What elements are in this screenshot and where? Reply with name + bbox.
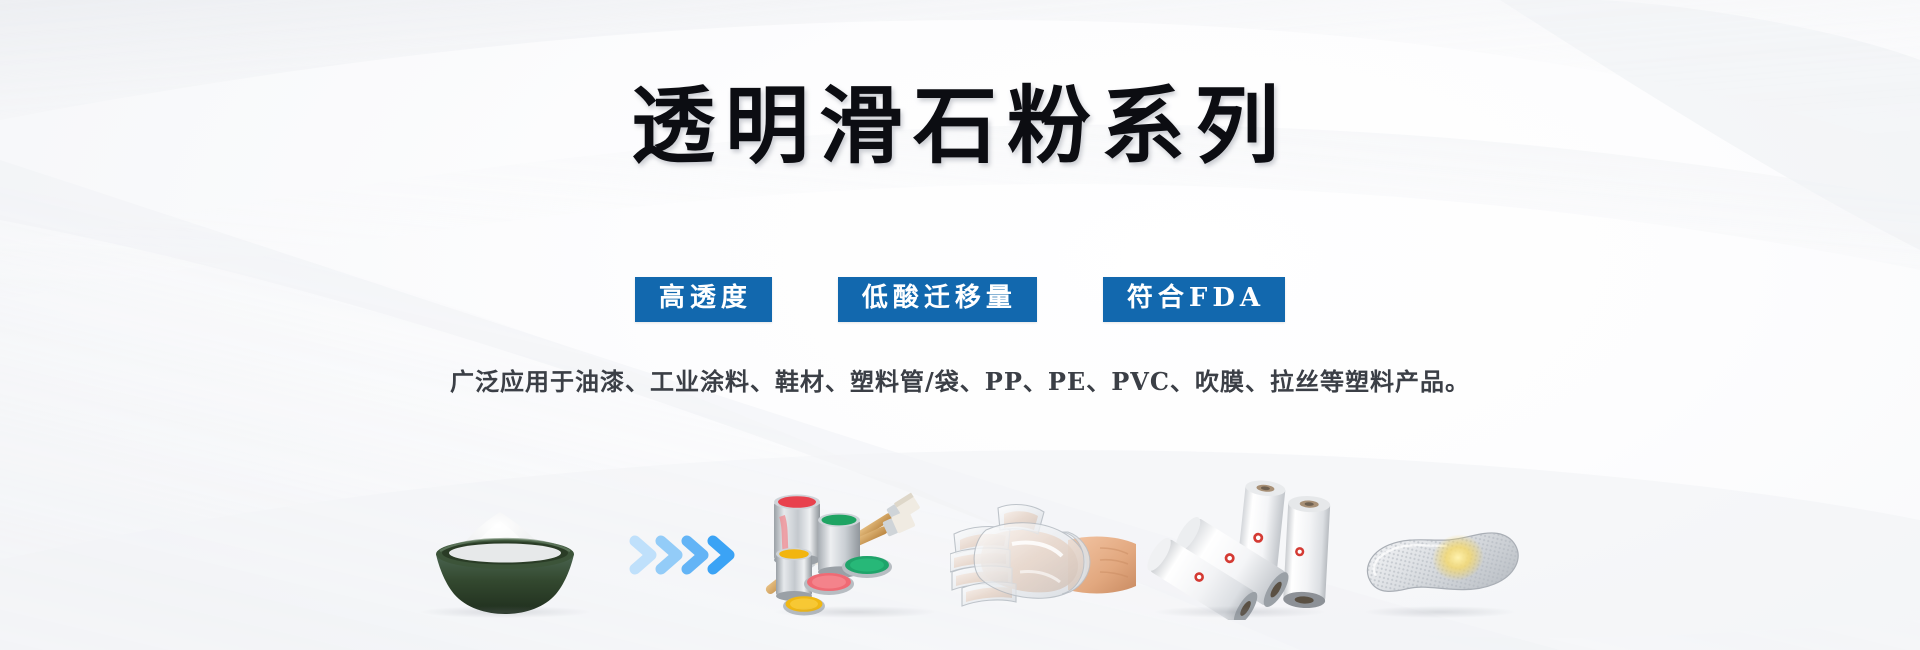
feature-badge-fda-compliant: 符合FDA [1103, 277, 1285, 322]
gloved-hand-image [950, 490, 1140, 620]
talc-powder-bowl-image [400, 490, 610, 620]
process-arrow-icon [610, 490, 760, 620]
page-title: 透明滑石粉系列 [0, 84, 1920, 168]
product-image-strip [0, 420, 1920, 620]
paint-cans-image [760, 480, 950, 620]
product-banner: 透明滑石粉系列 高透度 低酸迁移量 符合FDA 广泛应用于油漆、工业涂料、鞋材、… [0, 0, 1920, 650]
feature-badge-high-transparency: 高透度 [635, 277, 772, 322]
feature-badge-group: 高透度 低酸迁移量 符合FDA [0, 277, 1920, 322]
feature-badge-low-acid-migration: 低酸迁移量 [838, 277, 1037, 322]
film-rolls-image [1140, 480, 1340, 620]
application-description: 广泛应用于油漆、工业涂料、鞋材、塑料管/袋、PP、PE、PVC、吹膜、拉丝等塑料… [0, 362, 1920, 397]
shoe-sole-image [1340, 490, 1540, 620]
